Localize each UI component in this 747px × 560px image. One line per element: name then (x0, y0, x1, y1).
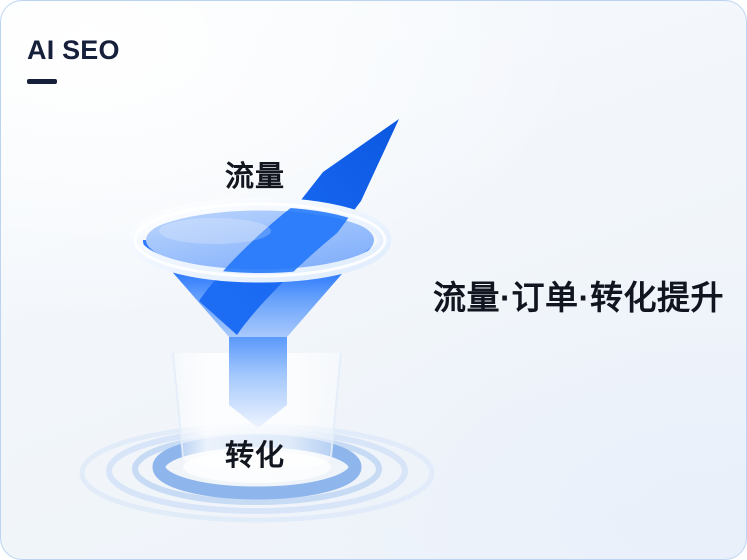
title-block: AI SEO (27, 37, 120, 84)
page-title: AI SEO (27, 37, 120, 64)
headline-text: 流量·订单·转化提升 (433, 277, 724, 318)
funnel-illustration (1, 1, 461, 560)
funnel-label-traffic: 流量 (225, 153, 285, 195)
funnel-label-conversion: 转化 (225, 432, 285, 474)
title-underline-rule (27, 79, 57, 84)
seo-promo-card: 流量 转化 AI SEO 流量·订单·转化提升 (0, 0, 747, 560)
